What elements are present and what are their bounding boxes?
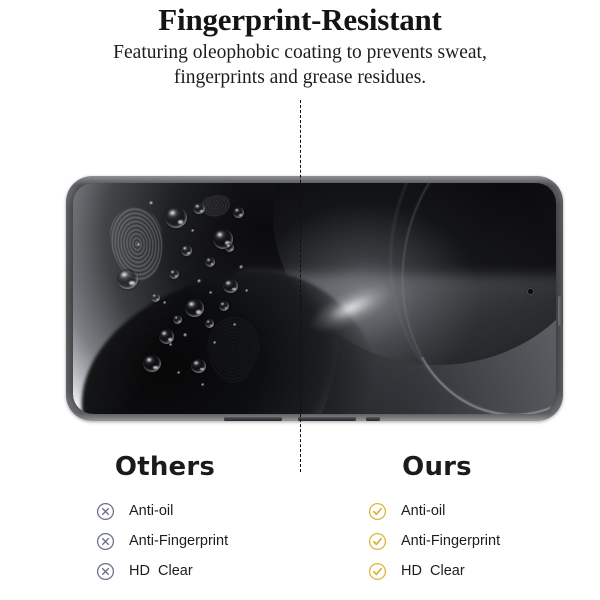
phone-bottom-port: [366, 417, 380, 421]
feature-label: Anti-oil: [129, 503, 173, 519]
feature-label: HD Clear: [401, 563, 465, 579]
water-mist: [183, 333, 188, 338]
list-item: Anti-Fingerprint: [368, 526, 562, 556]
phone-bottom-button: [224, 417, 282, 421]
water-mist: [163, 301, 167, 305]
water-droplet: [233, 207, 244, 218]
list-item: HD Clear: [96, 556, 290, 586]
subtitle-line-2: fingerprints and grease residues.: [22, 65, 578, 90]
water-mist: [169, 343, 173, 347]
list-item: Anti-Fingerprint: [96, 526, 290, 556]
water-mist: [245, 289, 249, 293]
header: Fingerprint-Resistant Featuring oleophob…: [0, 0, 600, 90]
circle-check-icon: [368, 532, 387, 551]
water-droplet: [151, 293, 160, 302]
water-mist: [191, 229, 195, 233]
list-item: Anti-oil: [368, 496, 562, 526]
water-droplet: [205, 257, 215, 267]
water-mist: [137, 243, 141, 247]
front-camera-icon: [527, 288, 534, 295]
water-droplet: [181, 245, 192, 256]
phone-bottom-button: [298, 417, 356, 421]
feature-list-ours: Anti-oil Anti-Fingerprint HD Clear: [312, 496, 562, 586]
water-mist: [213, 341, 217, 345]
circle-x-icon: [96, 562, 115, 581]
water-mist: [239, 265, 244, 270]
feature-list-others: Anti-oil Anti-Fingerprint HD Clear: [40, 496, 290, 586]
subtitle-line-1: Featuring oleophobic coating to prevents…: [113, 42, 487, 63]
contaminated-screen-half: [73, 183, 301, 414]
circle-x-icon: [96, 502, 115, 521]
feature-label: Anti-Fingerprint: [129, 533, 228, 549]
water-droplet: [219, 301, 229, 311]
page-title: Fingerprint-Resistant: [0, 2, 600, 38]
column-heading-others: Others: [40, 452, 290, 482]
feature-label: Anti-oil: [401, 503, 445, 519]
water-mist: [233, 323, 237, 327]
water-droplet: [185, 299, 204, 317]
phone-side-button: [558, 296, 563, 326]
list-item: HD Clear: [368, 556, 562, 586]
water-droplet: [143, 355, 161, 372]
water-mist: [209, 291, 213, 295]
water-mist: [197, 279, 202, 284]
product-phone-image: [66, 176, 563, 421]
feature-label: HD Clear: [129, 563, 193, 579]
water-droplet: [165, 207, 187, 228]
water-droplet: [205, 319, 214, 328]
water-mist: [201, 383, 205, 387]
water-mist: [149, 201, 154, 206]
comparison-divider-line: [300, 100, 301, 472]
water-droplet: [169, 269, 179, 279]
circle-check-icon: [368, 502, 387, 521]
list-item: Anti-oil: [96, 496, 290, 526]
comparison-column-ours: Ours Anti-oil Anti-Fingerprint: [312, 452, 562, 586]
page-subtitle: Featuring oleophobic coating to prevents…: [0, 40, 600, 90]
circle-check-icon: [368, 562, 387, 581]
water-droplet: [159, 329, 174, 344]
phone-screen: [73, 183, 556, 414]
water-droplet: [173, 315, 182, 324]
comparison-column-others: Others Anti-oil Anti-Fingerprint: [40, 452, 290, 586]
feature-label: Anti-Fingerprint: [401, 533, 500, 549]
water-droplet: [225, 243, 234, 252]
water-droplet: [191, 359, 206, 373]
water-mist: [177, 371, 181, 375]
water-droplet: [223, 279, 238, 293]
water-droplet: [193, 203, 205, 214]
column-heading-ours: Ours: [312, 452, 562, 482]
water-droplet: [117, 269, 138, 289]
circle-x-icon: [96, 532, 115, 551]
